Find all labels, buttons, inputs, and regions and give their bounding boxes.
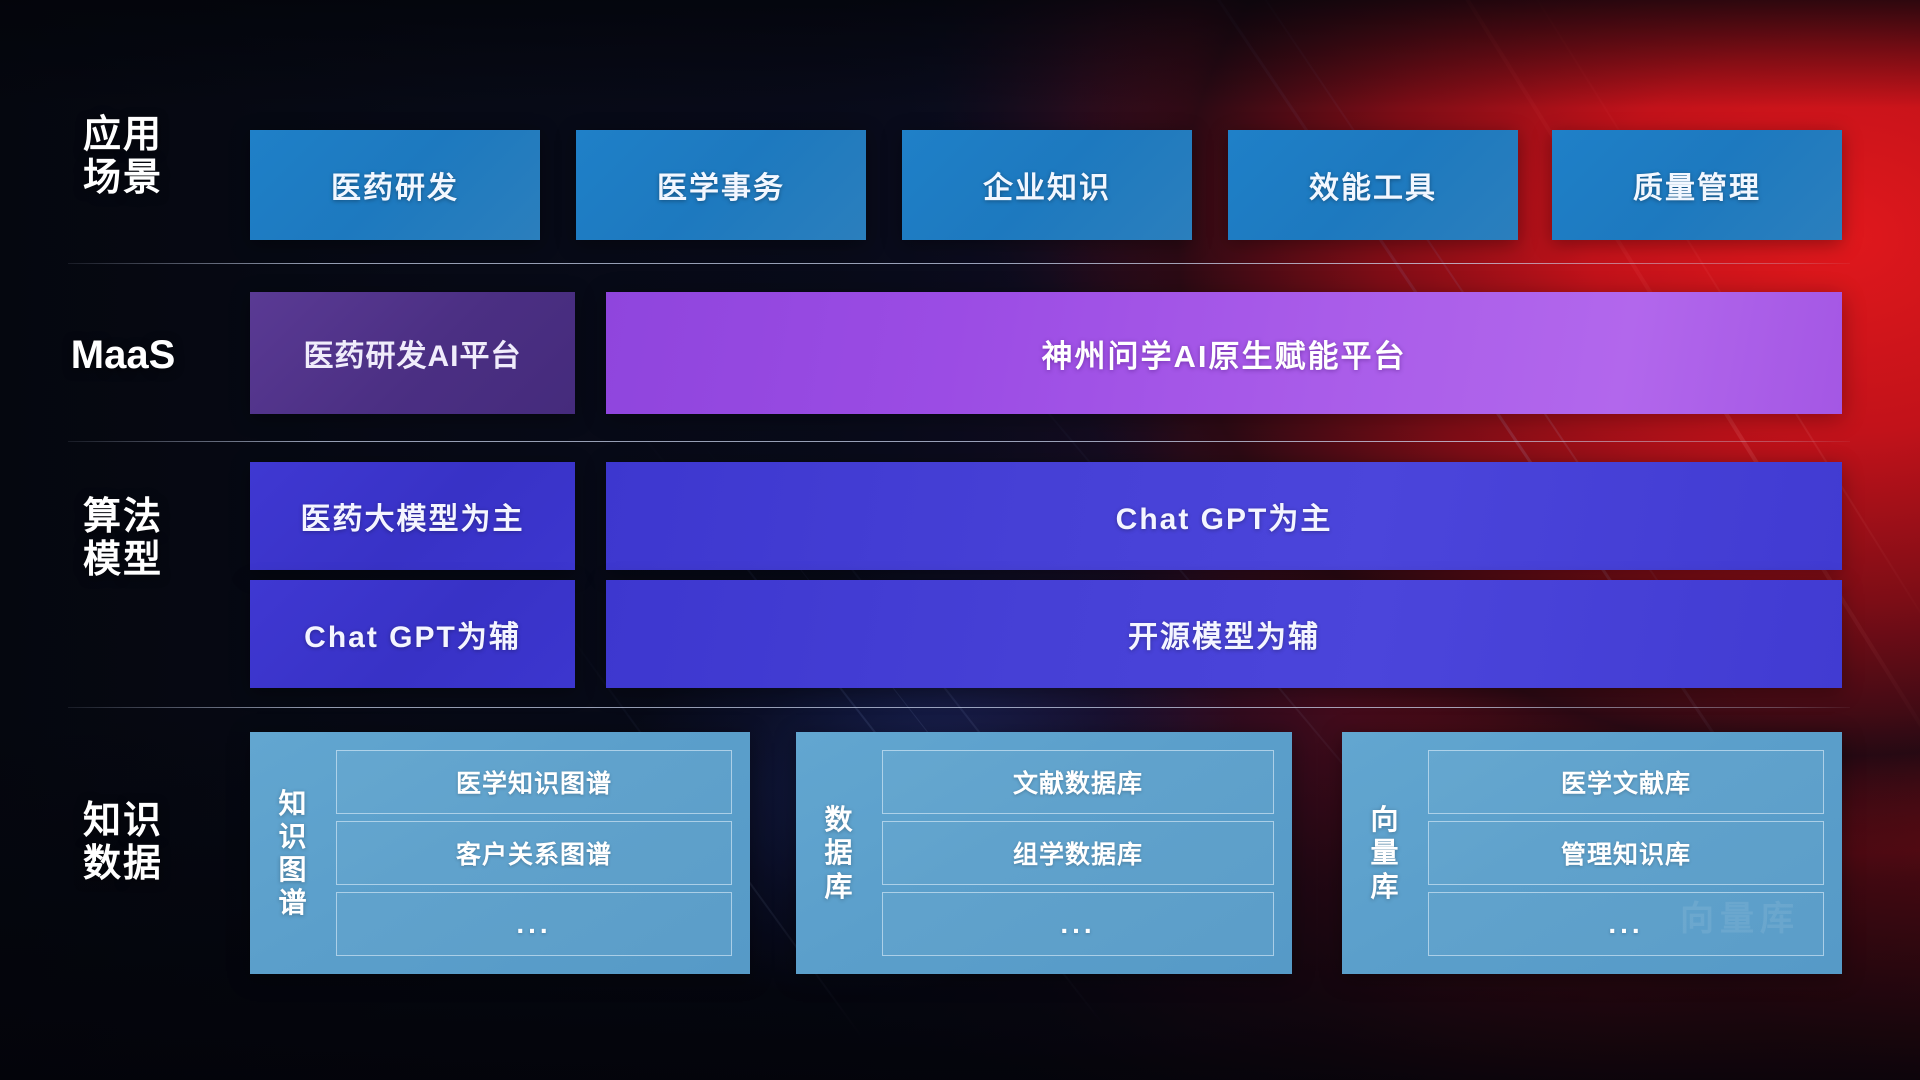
vertical-label-char: 向 <box>1370 803 1399 836</box>
knowledge-card-database[interactable]: 数据库 文献数据库 组学数据库 ... <box>796 732 1292 974</box>
knowledge-card-vertical-label: 数据库 <box>806 746 872 960</box>
algo-tile-label: 开源模型为辅 <box>1128 612 1320 656</box>
knowledge-item-literature-db[interactable]: 文献数据库 <box>882 750 1274 814</box>
algo-tile-label: 医药大模型为主 <box>301 494 525 538</box>
knowledge-item-customer-graph[interactable]: 客户关系图谱 <box>336 821 732 885</box>
knowledge-card-vertical-label: 知识图谱 <box>260 746 326 960</box>
vertical-label-char: 据 <box>824 836 853 869</box>
knowledge-card-vertical-label: 向量库 <box>1352 746 1418 960</box>
vertical-label-char: 库 <box>824 870 853 903</box>
scenario-tile-enterprise-knowledge[interactable]: 企业知识 <box>902 130 1192 240</box>
knowledge-item-more[interactable]: ... <box>1428 892 1824 956</box>
divider-after-maas <box>68 441 1850 442</box>
knowledge-card-item-list: 文献数据库 组学数据库 ... <box>872 746 1278 960</box>
algo-tile-label: Chat GPT为主 <box>1116 494 1333 538</box>
divider-after-algorithm <box>68 707 1850 708</box>
scenario-tile-label: 企业知识 <box>983 163 1111 207</box>
knowledge-card-item-list: 医学知识图谱 客户关系图谱 ... <box>326 746 736 960</box>
divider-after-scenarios <box>68 263 1850 264</box>
vertical-label-char: 谱 <box>278 886 307 919</box>
maas-tile-label: 医药研发AI平台 <box>304 331 522 375</box>
vertical-label-char: 识 <box>278 820 307 853</box>
vertical-label-char: 量 <box>1370 836 1399 869</box>
knowledge-item-more[interactable]: ... <box>882 892 1274 956</box>
algo-tile-opensource-secondary[interactable]: 开源模型为辅 <box>606 580 1842 688</box>
vertical-label-char: 库 <box>1370 870 1399 903</box>
scenario-tile-label: 医学事务 <box>657 163 785 207</box>
knowledge-item-medical-graph[interactable]: 医学知识图谱 <box>336 750 732 814</box>
knowledge-item-management-knowledge[interactable]: 管理知识库 <box>1428 821 1824 885</box>
vertical-label-char: 知 <box>278 787 307 820</box>
row-label-application-scenarios: 应用 场景 <box>38 114 208 199</box>
scenario-tile-label: 质量管理 <box>1633 163 1761 207</box>
algo-tile-chatgpt-secondary[interactable]: Chat GPT为辅 <box>250 580 575 688</box>
slide-canvas: 应用 场景 医药研发 医学事务 企业知识 效能工具 质量管理 MaaS 医药研发… <box>0 0 1920 1080</box>
algo-tile-chatgpt-primary[interactable]: Chat GPT为主 <box>606 462 1842 570</box>
scenario-tile-pharma-rd[interactable]: 医药研发 <box>250 130 540 240</box>
vertical-label-char: 数 <box>824 803 853 836</box>
knowledge-card-item-list: 医学文献库 管理知识库 ... <box>1418 746 1828 960</box>
maas-tile-pharma-ai-platform[interactable]: 医药研发AI平台 <box>250 292 575 414</box>
scenario-tile-label: 医药研发 <box>331 163 459 207</box>
knowledge-card-knowledge-graph[interactable]: 知识图谱 医学知识图谱 客户关系图谱 ... <box>250 732 750 974</box>
algo-tile-pharma-llm-primary[interactable]: 医药大模型为主 <box>250 462 575 570</box>
knowledge-item-omics-db[interactable]: 组学数据库 <box>882 821 1274 885</box>
scenario-tile-medical-affairs[interactable]: 医学事务 <box>576 130 866 240</box>
row-label-knowledge-data: 知识 数据 <box>38 800 208 885</box>
maas-tile-label: 神州问学AI原生赋能平台 <box>1042 331 1407 376</box>
scenario-tile-label: 效能工具 <box>1309 163 1437 207</box>
vertical-label-char: 图 <box>278 853 307 886</box>
scenario-tile-quality-management[interactable]: 质量管理 <box>1552 130 1842 240</box>
row-label-algorithm-model: 算法 模型 <box>38 496 208 581</box>
scenario-tile-efficiency-tools[interactable]: 效能工具 <box>1228 130 1518 240</box>
maas-tile-shenzhou-wenxue-platform[interactable]: 神州问学AI原生赋能平台 <box>606 292 1842 414</box>
knowledge-card-vector-store[interactable]: 向量库 医学文献库 管理知识库 ... <box>1342 732 1842 974</box>
knowledge-item-medical-literature[interactable]: 医学文献库 <box>1428 750 1824 814</box>
row-label-maas: MaaS <box>38 333 208 378</box>
algo-tile-label: Chat GPT为辅 <box>304 612 521 656</box>
knowledge-item-more[interactable]: ... <box>336 892 732 956</box>
